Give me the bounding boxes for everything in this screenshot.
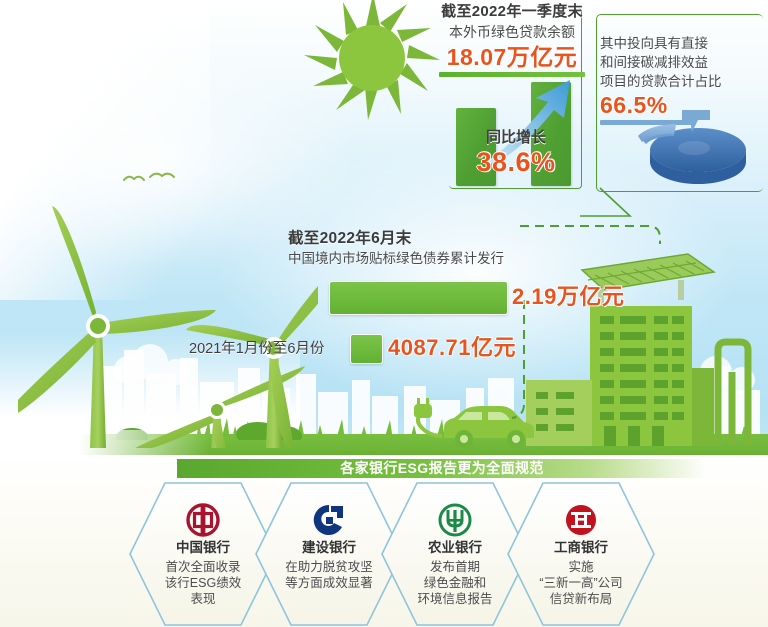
pie-line2: 和间接碳减排效益: [600, 53, 768, 72]
boc-logo-icon: [186, 503, 220, 537]
pie-line1: 其中投向具有直接: [600, 34, 768, 53]
bank-hexagon-icbc[interactable]: 工商银行 实施 “三新一高”公司 信贷新布局: [506, 481, 656, 627]
bond-line1: 截至2022年6月末: [288, 228, 588, 249]
bank-desc-line: 信贷新布局: [506, 591, 656, 607]
abc-logo-icon: [438, 503, 472, 537]
bond-bar-total: [329, 281, 508, 315]
bond-value-2021: 4087.71亿元: [388, 335, 516, 361]
pie-line3: 项目的贷款合计占比: [600, 72, 768, 91]
bond-label-2021: 2021年1月份至6月份: [189, 339, 324, 359]
bond-text-block: 截至2022年6月末 中国境内市场贴标绿色债券累计发行: [288, 228, 588, 269]
growth-value: 38.6%: [460, 147, 572, 177]
headline-line2: 本外币绿色贷款余额: [424, 22, 600, 42]
infographic-canvas: 截至2022年一季度末 本外币绿色贷款余额 18.07万亿元 同比增长 38.6…: [0, 0, 768, 627]
growth-label-text: 同比增长: [460, 128, 572, 147]
bank-hexagon-row: 中国银行 首次全面收录 该行ESG绩效 表现 建设银行 在助力脱贫攻坚 等方面成…: [128, 481, 658, 627]
headline-green-loans: 截至2022年一季度末 本外币绿色贷款余额 18.07万亿元: [424, 2, 600, 77]
ccb-logo-icon: [312, 503, 346, 537]
headline-value: 18.07万亿元: [424, 43, 600, 71]
headline-underline: [439, 72, 585, 77]
bank-name: 工商银行: [506, 539, 656, 557]
bond-line2: 中国境内市场贴标绿色债券累计发行: [288, 249, 588, 269]
headline-line1: 截至2022年一季度末: [424, 2, 600, 22]
growth-annotation: 同比增长 38.6%: [460, 128, 572, 177]
bank-desc-line: 实施: [506, 559, 656, 575]
banner-title: 各家银行ESG报告更为全面规范: [177, 459, 707, 478]
icbc-logo-icon: [564, 503, 598, 537]
bond-bar-2021: [350, 334, 383, 364]
pie-chart: [636, 108, 760, 190]
bond-value-total: 2.19万亿元: [512, 284, 624, 310]
bank-desc-line: “三新一高”公司: [506, 575, 656, 591]
connector-dashed-vertical: [498, 300, 558, 430]
birds-icon: [120, 168, 180, 190]
